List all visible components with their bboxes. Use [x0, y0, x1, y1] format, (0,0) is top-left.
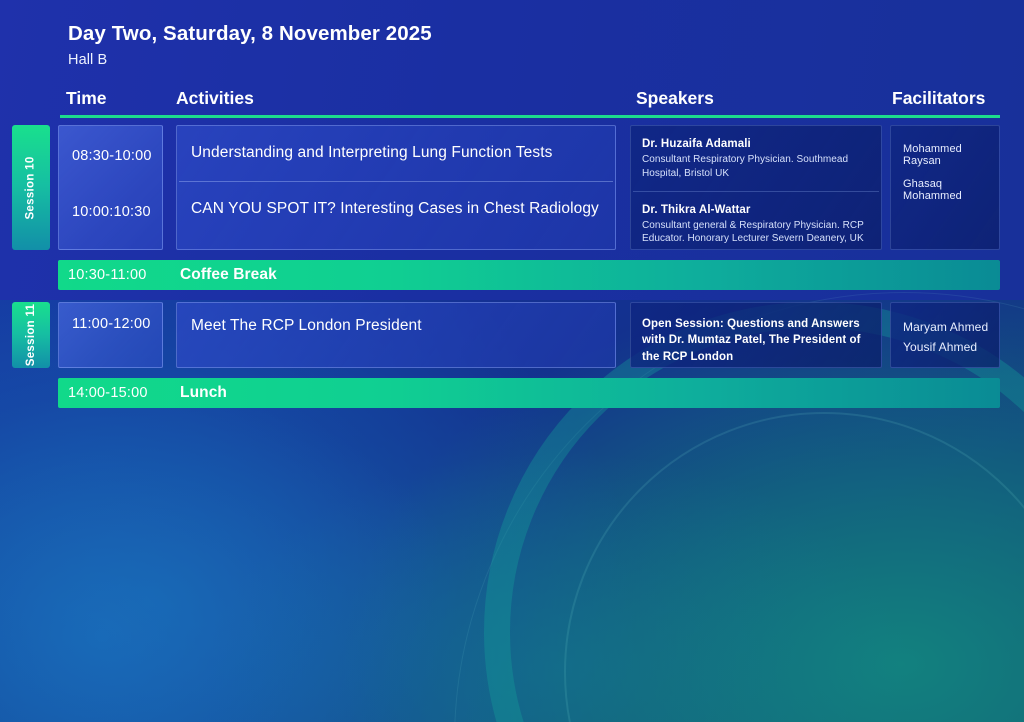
- session-11-speakers-cell: Open Session: Questions and Answers with…: [630, 302, 882, 368]
- facilitator-list: Mohammed Raysan Ghasaq Mohammed: [891, 126, 999, 212]
- session-10-time-1: 08:30-10:00: [72, 148, 162, 164]
- session-11-speaker-note: Open Session: Questions and Answers with…: [631, 303, 881, 377]
- column-header-time: Time: [66, 88, 107, 109]
- session-11-activity-1: Meet The RCP London President: [177, 303, 615, 354]
- hall-subtitle: Hall B: [68, 52, 432, 68]
- speaker-2-name: Dr. Thikra Al-Wattar: [642, 204, 871, 216]
- session-tab-11: Session 11: [12, 302, 50, 368]
- session-11-time-cell: 11:00-12:00: [58, 302, 163, 368]
- agenda-slide: Day Two, Saturday, 8 November 2025 Hall …: [0, 0, 1024, 722]
- column-header-speakers: Speakers: [636, 88, 714, 109]
- session-10-activities-cell: Understanding and Interpreting Lung Func…: [176, 125, 616, 250]
- facilitator-name: Maryam Ahmed: [903, 320, 989, 334]
- session-11-time-1: 11:00-12:00: [72, 316, 162, 332]
- facilitator-name: Mohammed Raysan: [903, 143, 989, 167]
- break-coffee-time: 10:30-11:00: [58, 267, 180, 283]
- session-tab-10: Session 10: [12, 125, 50, 250]
- break-lunch-time: 14:00-15:00: [58, 385, 180, 401]
- facilitator-name: Yousif Ahmed: [903, 340, 989, 354]
- session-tab-10-label: Session 10: [25, 156, 37, 219]
- speaker-2-affiliation: Consultant general & Respiratory Physici…: [642, 219, 871, 247]
- facilitator-list: Maryam Ahmed Yousif Ahmed: [891, 303, 999, 370]
- break-lunch-label: Lunch: [180, 384, 227, 402]
- session-10-time-cell: 08:30-10:00 10:00:10:30: [58, 125, 163, 250]
- facilitator-name: Ghasaq Mohammed: [903, 178, 989, 202]
- session-10-facilitators-cell: Mohammed Raysan Ghasaq Mohammed: [890, 125, 1000, 250]
- session-11-activities-cell: Meet The RCP London President: [176, 302, 616, 368]
- break-coffee-label: Coffee Break: [180, 266, 277, 284]
- session-10-speakers-cell: Dr. Huzaifa Adamali Consultant Respirato…: [630, 125, 882, 250]
- break-row-coffee: 10:30-11:00 Coffee Break: [58, 260, 1000, 290]
- session-11-facilitators-cell: Maryam Ahmed Yousif Ahmed: [890, 302, 1000, 368]
- column-header-activities: Activities: [176, 88, 254, 109]
- speaker-entry: Dr. Huzaifa Adamali Consultant Respirato…: [631, 126, 881, 191]
- session-10-time-2: 10:00:10:30: [72, 204, 162, 220]
- header-underline: [60, 115, 1000, 118]
- speaker-1-affiliation: Consultant Respiratory Physician. Southm…: [642, 153, 871, 181]
- session-tab-11-label: Session 11: [25, 304, 37, 366]
- session-10-activity-2: CAN YOU SPOT IT? Interesting Cases in Ch…: [177, 182, 615, 237]
- session-10-activity-1: Understanding and Interpreting Lung Func…: [177, 126, 615, 181]
- column-header-facilitators: Facilitators: [892, 88, 985, 109]
- title-block: Day Two, Saturday, 8 November 2025 Hall …: [68, 22, 432, 68]
- page-title: Day Two, Saturday, 8 November 2025: [68, 22, 432, 46]
- speaker-entry: Dr. Thikra Al-Wattar Consultant general …: [631, 192, 881, 257]
- speaker-1-name: Dr. Huzaifa Adamali: [642, 138, 871, 150]
- break-row-lunch: 14:00-15:00 Lunch: [58, 378, 1000, 408]
